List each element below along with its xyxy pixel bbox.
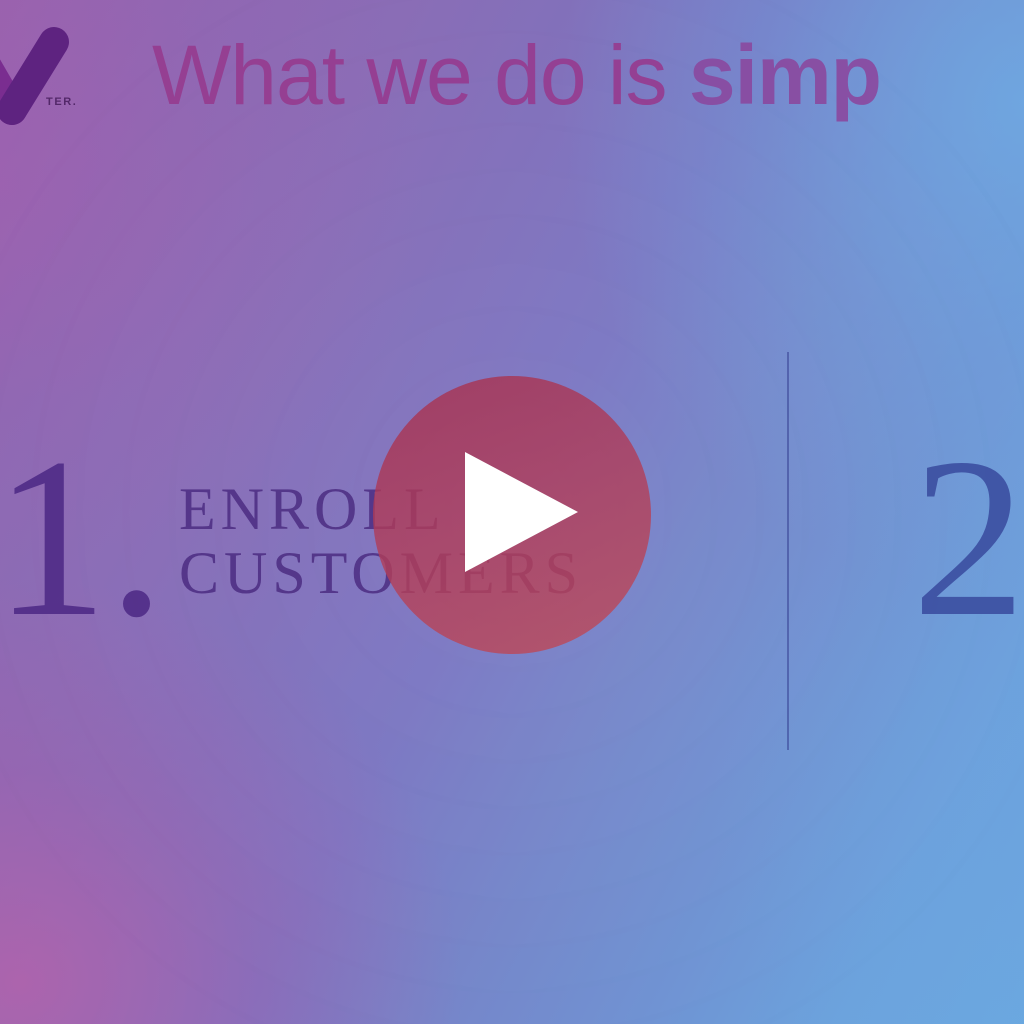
step-divider bbox=[787, 352, 789, 750]
step-item-2: 2 bbox=[912, 436, 1024, 641]
step-number-1: 1. bbox=[0, 436, 165, 641]
play-button[interactable] bbox=[373, 376, 651, 654]
v-checkmark-logo-icon bbox=[0, 16, 74, 126]
play-triangle-icon bbox=[465, 452, 578, 572]
page-title-bold: simp bbox=[689, 28, 881, 122]
step-number-2: 2 bbox=[912, 436, 1024, 641]
video-poster: TER. What we do is simp 1. ENROLL CUSTOM… bbox=[0, 0, 1024, 1024]
page-title: What we do is simp bbox=[152, 33, 881, 117]
brand-logo bbox=[0, 16, 74, 126]
page-title-light: What we do is bbox=[152, 28, 689, 122]
brand-logo-subtext: TER. bbox=[46, 96, 77, 108]
